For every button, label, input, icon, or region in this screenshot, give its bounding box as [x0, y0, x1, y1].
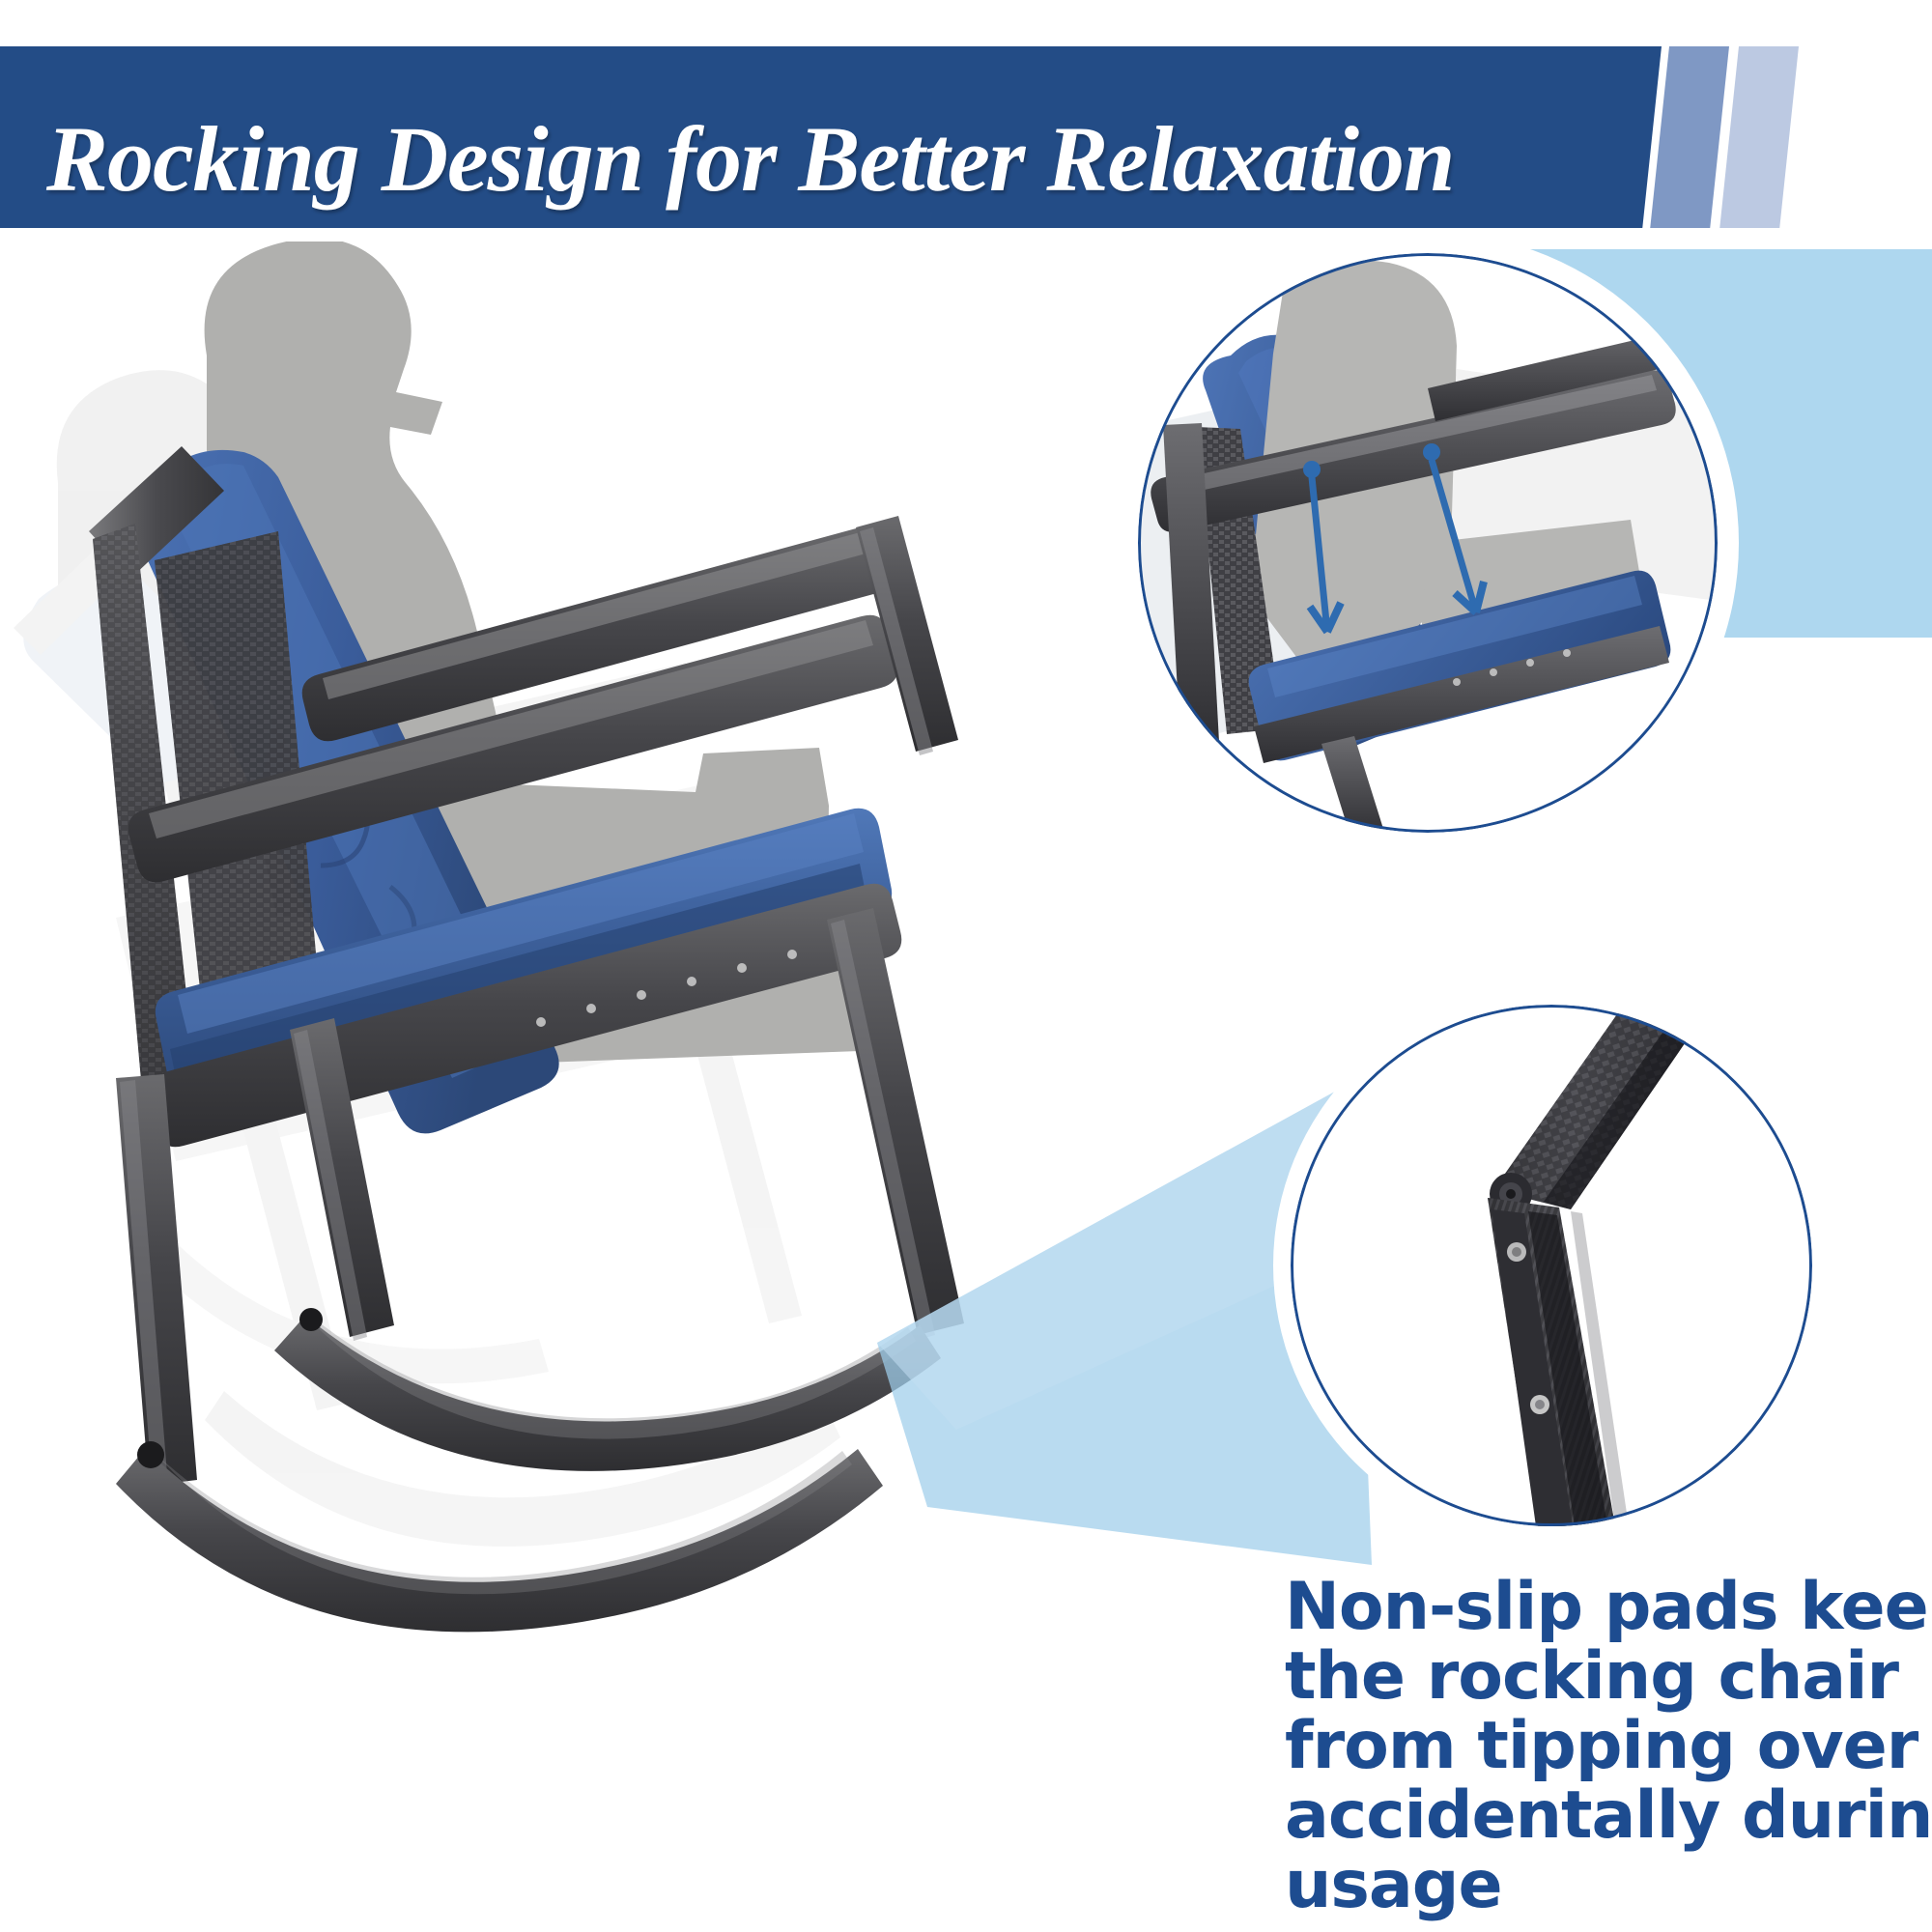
page-title: Rocking Design for Better Relaxation: [46, 97, 1631, 222]
caption-line-4: accidentally during: [1285, 1781, 1922, 1851]
caption-line-3: from tipping over: [1285, 1712, 1922, 1781]
infographic-canvas: Rocking Design for Better Relaxation: [0, 0, 1932, 1932]
backrest-support-callout[interactable]: [1138, 253, 1718, 833]
caption-text-block: Non-slip pads keep the rocking chair fro…: [1285, 1573, 1922, 1920]
caption-line-2: the rocking chair: [1285, 1642, 1922, 1712]
caption-line-5: usage: [1285, 1851, 1922, 1920]
caption-line-1: Non-slip pads keep: [1285, 1573, 1922, 1642]
title-banner: Rocking Design for Better Relaxation: [0, 46, 1835, 228]
banner-bar-tertiary: [1719, 46, 1799, 228]
non-slip-pad-leg-callout[interactable]: [1291, 1005, 1812, 1526]
banner-bar-secondary: [1650, 46, 1729, 228]
